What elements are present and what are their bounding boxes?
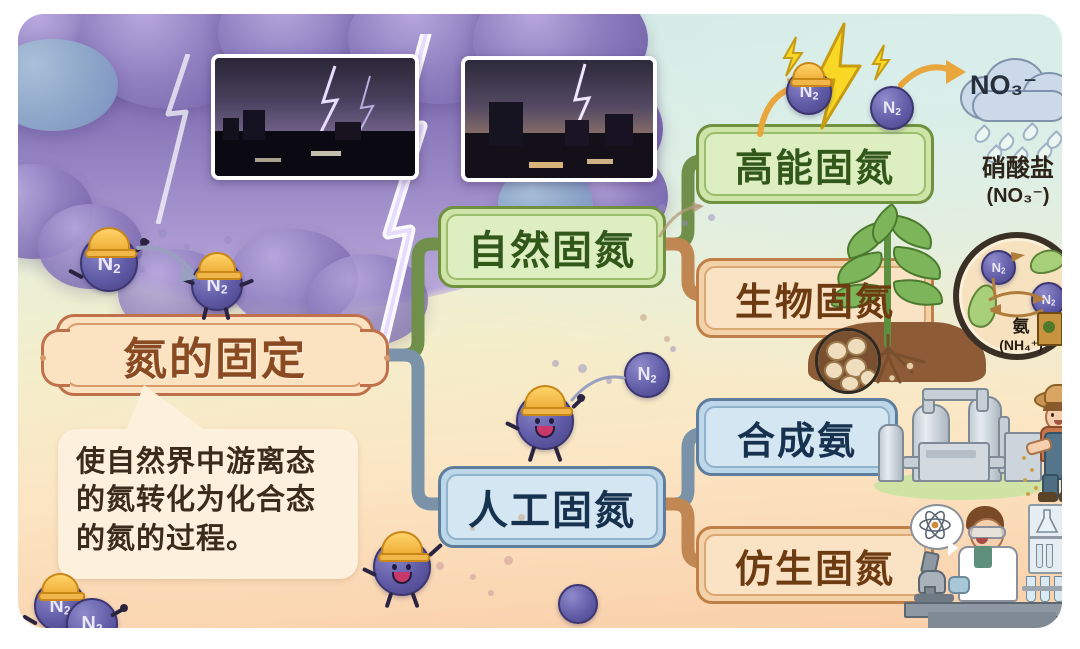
n2-molecule-lower xyxy=(558,584,598,624)
magnifier-glass: N2 N2 氨 (NH₄⁺) xyxy=(953,232,1062,360)
root-nodule-closeup xyxy=(815,328,881,394)
n2-molecule-helmet-top: N2 xyxy=(786,69,832,115)
node-high-energy-fixation-label: 高能固氮 xyxy=(735,137,895,192)
lightning-photo-right xyxy=(461,56,657,182)
smile-face xyxy=(518,394,572,448)
description-bubble: 使自然界中游离态的氮转化为化合态的氮的过程。 xyxy=(58,429,358,579)
lightning-spark-small2-icon xyxy=(869,44,893,82)
node-ammonia-synthesis-label: 合成氨 xyxy=(737,410,857,465)
nitrate-caption: 硝酸盐 (NO₃⁻) xyxy=(948,154,1062,209)
fertilizer-grains xyxy=(1020,450,1046,498)
arrow-middle-flow-icon xyxy=(570,370,628,404)
arrow-left-flow-icon xyxy=(136,242,206,288)
node-ammonia-synthesis[interactable]: 合成氨 xyxy=(696,398,898,476)
node-high-energy-fixation[interactable]: 高能固氮 xyxy=(696,124,934,204)
node-natural-fixation[interactable]: 自然固氮 xyxy=(438,206,666,288)
node-biomimetic-fixation-label: 仿生固氮 xyxy=(735,538,895,593)
ammonia-factory xyxy=(878,380,1038,498)
n2-molecule-middle: N2 xyxy=(624,352,670,398)
node-natural-fixation-label: 自然固氮 xyxy=(468,218,636,276)
farmer xyxy=(1018,388,1062,504)
bubble-tail xyxy=(126,385,206,431)
smile-face xyxy=(375,540,429,594)
n2-molecule-top-right: N2 xyxy=(870,86,914,130)
node-artificial-fixation-label: 人工固氮 xyxy=(468,478,636,536)
scientist-lab xyxy=(908,504,1062,628)
n2-mascot-middle xyxy=(516,392,574,450)
magnifier-bacteria: N2 N2 氨 (NH₄⁺) xyxy=(953,232,1062,360)
n2-mascot-double-bottom-left: N2 N2 xyxy=(30,574,140,628)
fertilizer-bag-icon xyxy=(1037,312,1062,346)
hard-hat-icon xyxy=(41,573,79,600)
n2-mascot-upper-left: N2 xyxy=(80,234,138,292)
description-text: 使自然界中游离态的氮转化为化合态的氮的过程。 xyxy=(58,429,358,558)
nitrate-name: 硝酸盐 xyxy=(948,154,1062,184)
n2-mascot-lower xyxy=(373,538,431,596)
arrow-bio-flow-icon xyxy=(656,202,706,242)
nitrate-formula: (NO₃⁻) xyxy=(948,184,1062,209)
no3-cloud-label: NO₃⁻ xyxy=(970,70,1037,101)
node-biomimetic-fixation[interactable]: 仿生固氮 xyxy=(696,526,934,604)
root-node-label: 氮的固定 xyxy=(123,323,307,387)
node-artificial-fixation[interactable]: 人工固氮 xyxy=(438,466,666,548)
root-node-nitrogen-fixation[interactable]: 氮的固定 xyxy=(56,314,374,396)
atom-icon xyxy=(918,510,952,540)
node-biological-fixation-label: 生物固氮 xyxy=(735,271,895,326)
lightning-photo-left xyxy=(211,54,419,180)
poster-canvas: 氮的固定 使自然界中游离态的氮转化为化合态的氮的过程。 自然固氮 人工固氮 高能… xyxy=(0,0,1080,649)
poster-card: 氮的固定 使自然界中游离态的氮转化为化合态的氮的过程。 自然固氮 人工固氮 高能… xyxy=(18,14,1062,628)
